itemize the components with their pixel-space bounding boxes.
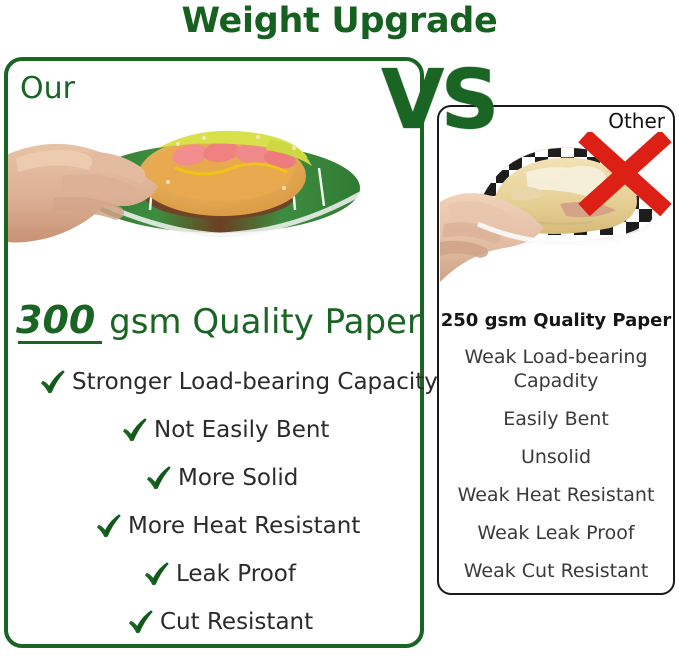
other-headline: 250 gsm Quality Paper (437, 309, 675, 333)
check-icon (38, 367, 68, 397)
check-icon (144, 463, 174, 493)
check-icon (94, 511, 124, 541)
our-feature-item: Cut Resistant (8, 598, 420, 646)
our-feature-item: More Solid (8, 454, 420, 502)
other-feature-item: Weak Heat Resistant (439, 483, 673, 507)
other-product-image (440, 132, 672, 290)
our-feature-label: Cut Resistant (160, 608, 313, 636)
check-icon (142, 559, 172, 589)
check-icon (142, 559, 172, 589)
our-feature-label: More Solid (178, 464, 298, 492)
our-feature-item: More Heat Resistant (8, 502, 420, 550)
our-feature-list: Stronger Load-bearing CapacityNot Easily… (8, 358, 420, 646)
our-feature-item: Stronger Load-bearing Capacity (8, 358, 420, 406)
other-product-illustration (440, 132, 672, 290)
our-headline-underline (18, 341, 102, 344)
other-feature-item: Unsolid (439, 445, 673, 469)
other-panel-label: Other (608, 108, 665, 134)
check-icon (94, 511, 124, 541)
other-feature-item: Easily Bent (439, 407, 673, 431)
our-feature-label: More Heat Resistant (128, 512, 360, 540)
our-product-illustration (8, 110, 414, 290)
our-feature-item: Not Easily Bent (8, 406, 420, 454)
check-icon (38, 367, 68, 397)
check-icon (126, 607, 156, 637)
check-icon (144, 463, 174, 493)
other-feature-item: Weak Cut Resistant (439, 559, 673, 583)
our-panel-label: Our (20, 72, 75, 106)
check-icon (120, 415, 150, 445)
our-feature-label: Stronger Load-bearing Capacity (72, 368, 438, 396)
our-product-image (8, 110, 414, 290)
other-feature-item: Weak Load-bearing Capadity (439, 345, 673, 393)
our-feature-label: Not Easily Bent (154, 416, 329, 444)
other-feature-list: Weak Load-bearing CapadityEasily BentUns… (439, 345, 673, 597)
page-title: Weight Upgrade (0, 0, 679, 46)
our-gsm-value: 300 (16, 298, 98, 342)
our-feature-item: Leak Proof (8, 550, 420, 598)
our-feature-label: Leak Proof (176, 560, 296, 588)
check-icon (120, 415, 150, 445)
check-icon (126, 607, 156, 637)
vs-badge: VS (381, 60, 496, 142)
other-feature-item: Weak Leak Proof (439, 521, 673, 545)
our-gsm-suffix: gsm Quality Paper (98, 302, 421, 342)
